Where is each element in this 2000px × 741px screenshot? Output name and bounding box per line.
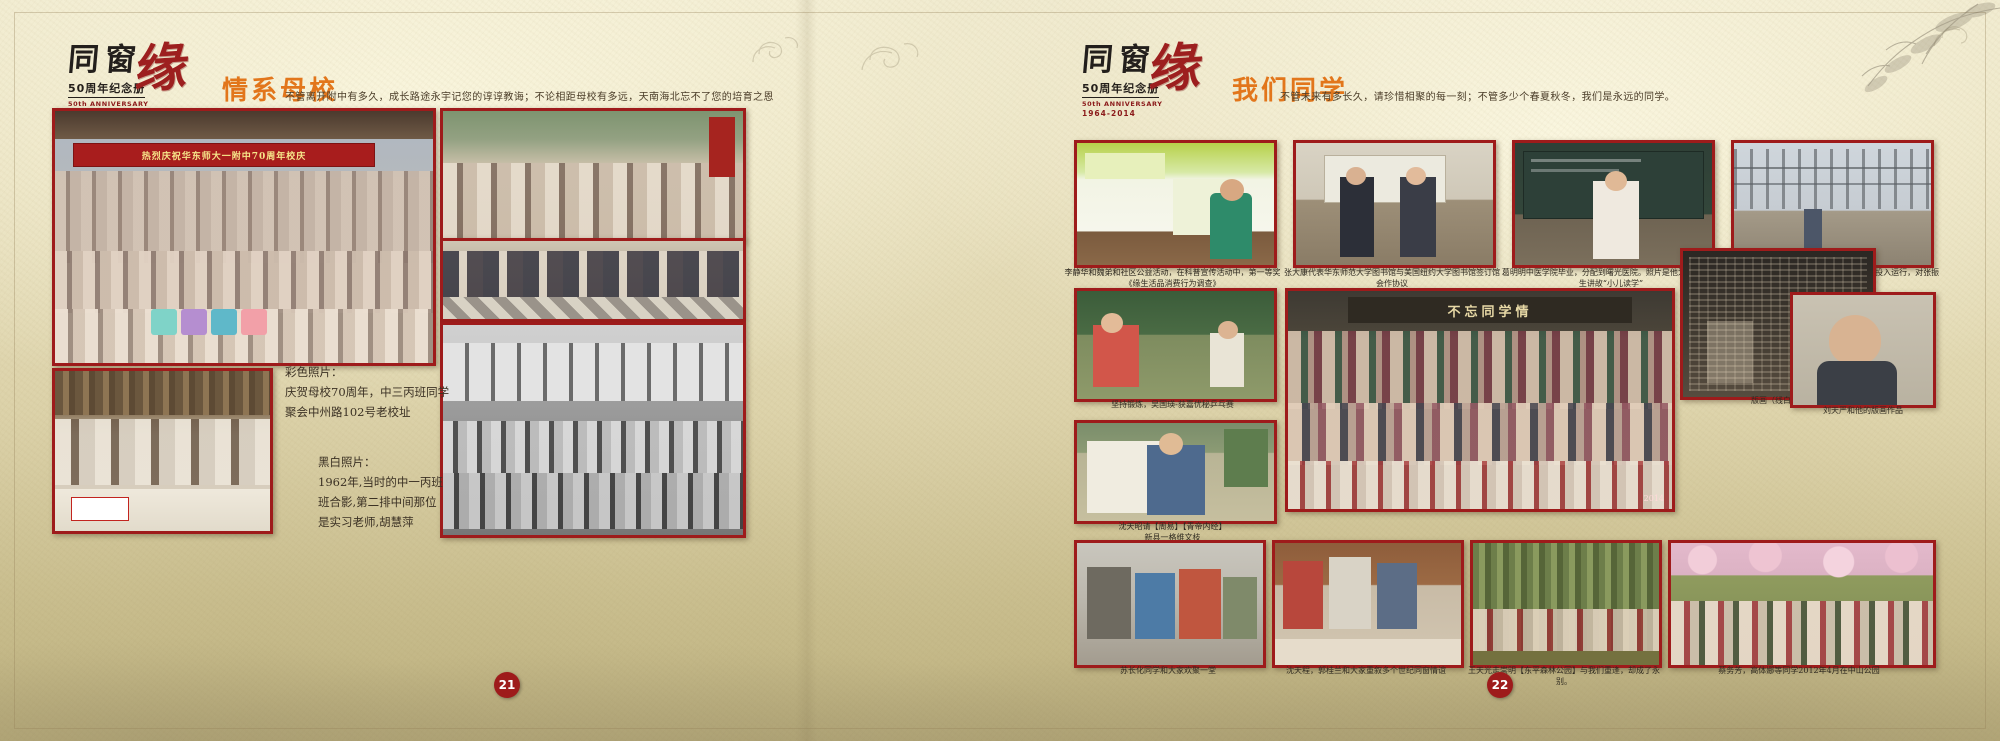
handshake-caption: 张大康代表华东师范大学图书馆与美国纽约大学图书馆签订馆会作协议 bbox=[1282, 268, 1502, 290]
color-photo-note-line-1: 庆贺母校70周年，中三丙班同学 bbox=[285, 382, 485, 402]
award-presentation-photo-image bbox=[443, 241, 743, 319]
logo-title-red: 缘 bbox=[1147, 41, 1205, 97]
logo-title-red: 缘 bbox=[133, 41, 191, 97]
library-gathering-photo-image bbox=[55, 371, 270, 531]
lecture-presentation-caption: 李静华和魏弟和社区公益活动，在科普宣传活动中，第一等奖《缘生活品消费行为调查》 bbox=[1060, 268, 1285, 290]
logo-anniversary-en: 50th ANNIVERSARY bbox=[68, 100, 149, 108]
cloud-swirl-decoration-left bbox=[745, 18, 805, 78]
color-photo-note: 彩色照片： 庆贺母校70周年，中三丙班同学 聚会中州路102号老校址 bbox=[285, 362, 485, 422]
dining-group-photo-image bbox=[1275, 543, 1461, 665]
large-group-reunion-photo[interactable]: 不忘同学情 2014 bbox=[1285, 288, 1675, 512]
table-tennis-photo-image bbox=[1077, 291, 1274, 399]
small-gathering-photo-image bbox=[1077, 543, 1263, 665]
centerfold-crease bbox=[795, 0, 817, 741]
table-tennis-caption: 坚持锻炼，吴国瑛-获嘉优秘乒乓赛 bbox=[1070, 400, 1275, 411]
logo-anniversary-en: 50th ANNIVERSARY bbox=[1082, 100, 1163, 108]
lecture-presentation-photo[interactable] bbox=[1074, 140, 1277, 268]
bw-photo-note-line-1: 1962年,当时的中一丙班 bbox=[318, 472, 528, 492]
placard-text bbox=[151, 309, 267, 335]
calligraphy-photo[interactable] bbox=[1074, 420, 1277, 524]
cherry-blossom-photo-image bbox=[1671, 543, 1933, 665]
ceremony-photo-image bbox=[443, 111, 743, 239]
bw-photo-note-line-0: 黑白照片： bbox=[318, 452, 528, 472]
cloud-swirl-decoration-right bbox=[858, 30, 928, 85]
bw-photo-note-line-2: 班合影,第二排中间那位 bbox=[318, 492, 528, 512]
reunion-banner-text: 不忘同学情 bbox=[1348, 297, 1632, 323]
right-page-logo: 同窗 缘 50周年纪念册 50th ANNIVERSARY 1964-2014 bbox=[1082, 45, 1163, 118]
right-page-number: 22 bbox=[1487, 672, 1513, 698]
cherry-blossom-photo[interactable] bbox=[1668, 540, 1936, 668]
library-gathering-photo[interactable] bbox=[52, 368, 273, 534]
left-page-lead-text: 不管离开附中有多久，成长路途永宇记您的谆谆教诲；不论相距母校有多远，天南海北忘不… bbox=[285, 88, 774, 103]
classroom-teaching-photo-image bbox=[1515, 143, 1712, 265]
dining-group-caption: 沈天程，郭桂兰和大家重叙多个世纪同窗情谊 bbox=[1264, 666, 1468, 677]
cherry-blossom-caption: 蔡务芳，高体娜等同学2012年4月在中山公园 bbox=[1660, 666, 1938, 677]
bw-photo-note: 黑白照片： 1962年,当时的中一丙班 班合影,第二排中间那位 是实习老师,胡慧… bbox=[318, 452, 528, 533]
right-page-lead-text: 不管未来有多长久，请珍惜相聚的每一刻；不管多少个春夏秋冬，我们是永远的同学。 bbox=[1280, 88, 1675, 103]
small-gathering-photo[interactable] bbox=[1074, 540, 1266, 668]
album-spread: 同窗 缘 50周年纪念册 50th ANNIVERSARY 1964-2014 … bbox=[0, 0, 2000, 741]
large-group-reunion-photo-image: 不忘同学情 2014 bbox=[1288, 291, 1672, 509]
handshake-photo[interactable] bbox=[1293, 140, 1496, 268]
banner-text: 热烈庆祝华东师大一附中70周年校庆 bbox=[73, 143, 375, 167]
pine-branch-ink-decoration bbox=[1740, 0, 2000, 120]
award-presentation-photo[interactable] bbox=[440, 238, 746, 322]
color-photo-note-line-2: 聚会中州路102号老校址 bbox=[285, 402, 485, 422]
ceremony-photo[interactable] bbox=[440, 108, 746, 242]
power-plant-photo-image bbox=[1734, 143, 1931, 265]
banner-group-photo-image: 热烈庆祝华东师大一附中70周年校庆 bbox=[55, 111, 433, 363]
small-gathering-caption: 苏长化同学和大家欢聚一堂 bbox=[1068, 666, 1268, 677]
portrait-photo-image bbox=[1793, 295, 1933, 405]
bamboo-forest-photo-image bbox=[1473, 543, 1659, 665]
table-tennis-photo[interactable] bbox=[1074, 288, 1277, 402]
dining-group-photo[interactable] bbox=[1272, 540, 1464, 668]
lecture-presentation-photo-image bbox=[1077, 143, 1274, 265]
portrait-photo[interactable] bbox=[1790, 292, 1936, 408]
cloud-swirl-decoration-far-right bbox=[1928, 8, 1988, 63]
handshake-photo-image bbox=[1296, 143, 1493, 265]
color-photo-note-line-0: 彩色照片： bbox=[285, 362, 485, 382]
portrait-caption: 刘天严和他的版画作品 bbox=[1788, 406, 1938, 417]
bw-photo-note-line-3: 是实习老师,胡慧萍 bbox=[318, 512, 528, 532]
bamboo-forest-photo[interactable] bbox=[1470, 540, 1662, 668]
banner-group-photo[interactable]: 热烈庆祝华东师大一附中70周年校庆 bbox=[52, 108, 436, 366]
logo-years: 1964-2014 bbox=[1082, 109, 1163, 118]
calligraphy-photo-image bbox=[1077, 423, 1274, 521]
left-page-number: 21 bbox=[494, 672, 520, 698]
